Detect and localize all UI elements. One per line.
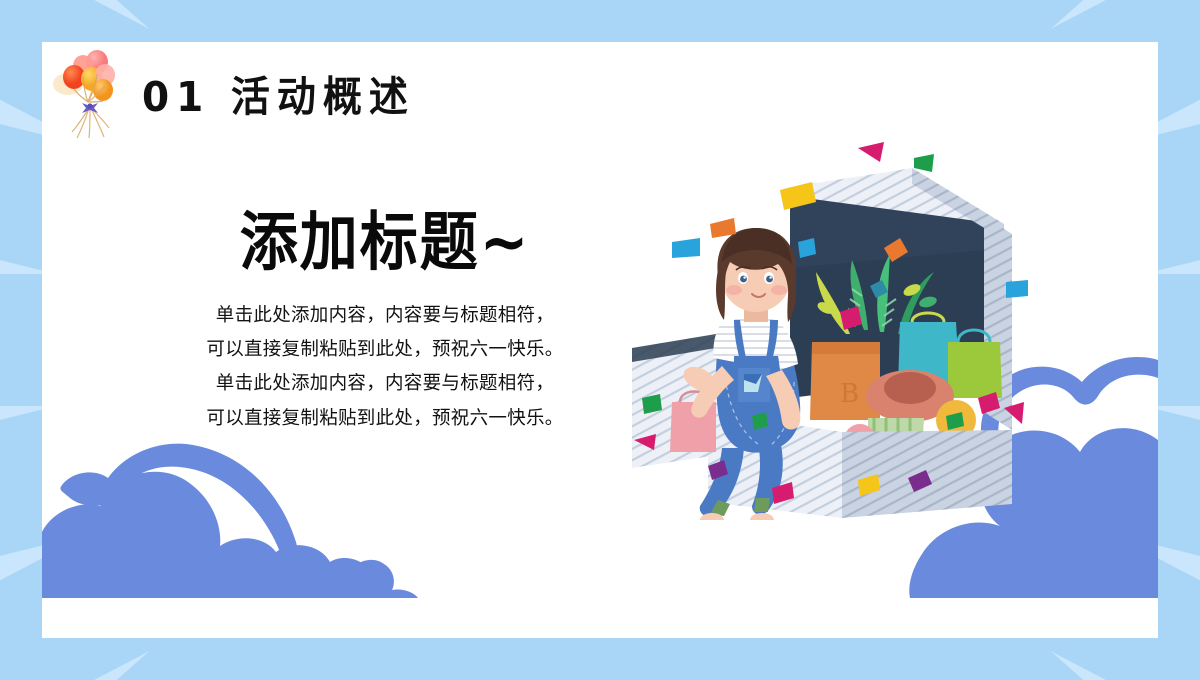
paragraph-line: 单击此处添加内容，内容要与标题相符，	[190, 299, 580, 333]
illustration-svg: B	[612, 130, 1032, 520]
girl-gift-box-illustration: B	[612, 130, 1032, 520]
slide-header: 01 活动概述	[52, 48, 415, 140]
paragraph-line: 单击此处添加内容，内容要与标题相符，	[190, 367, 580, 401]
slide-canvas: 01 活动概述 添加标题~ 单击此处添加内容，内容要与标题相符， 可以直接复制粘…	[0, 0, 1200, 680]
balloon-bunch-icon	[52, 48, 136, 140]
paragraph-line: 可以直接复制粘贴到此处，预祝六一快乐。	[190, 333, 580, 367]
paragraph-line: 可以直接复制粘贴到此处，预祝六一快乐。	[190, 402, 580, 436]
page-title: 添加标题~	[190, 209, 580, 276]
text-content-block: 添加标题~ 单击此处添加内容，内容要与标题相符， 可以直接复制粘贴到此处，预祝六…	[190, 212, 580, 436]
section-number-title: 01 活动概述	[142, 64, 415, 123]
svg-text:B: B	[840, 379, 859, 409]
body-paragraph: 单击此处添加内容，内容要与标题相符， 可以直接复制粘贴到此处，预祝六一快乐。 单…	[190, 299, 580, 436]
